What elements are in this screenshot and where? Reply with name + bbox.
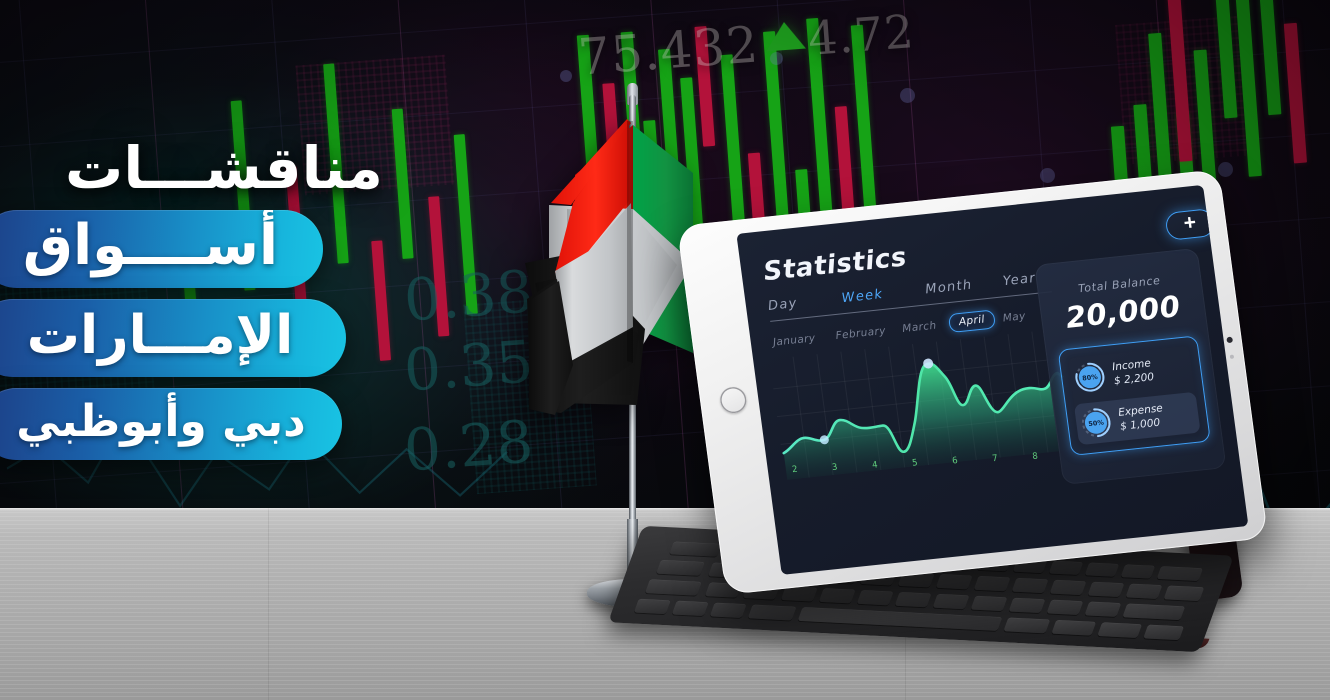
- income-progress-ring: 80%: [1072, 360, 1107, 394]
- income-row[interactable]: 80% Income $ 2,200: [1068, 346, 1195, 399]
- headline-pill-2: الإمـــارات: [0, 299, 346, 377]
- expense-text: Expense $ 1,000: [1118, 402, 1166, 434]
- poster-canvas: 75.432 4.72 0.38 0.35 0.28: [0, 0, 1330, 700]
- x-tick-7: 7: [992, 454, 999, 464]
- month-march[interactable]: March: [902, 318, 950, 335]
- tablet-device: Statistics Day Week Month Year January F…: [677, 169, 1268, 595]
- headline-title: مناقشـــات: [0, 138, 470, 199]
- expense-progress-ring: 50%: [1079, 406, 1114, 440]
- tab-day[interactable]: Day: [767, 291, 843, 314]
- balance-panel: Total Balance 20,000 80%: [1034, 248, 1227, 485]
- month-january[interactable]: January: [772, 330, 836, 348]
- breakdown-card: 80% Income $ 2,200: [1058, 335, 1211, 456]
- tab-month[interactable]: Month: [924, 274, 1004, 297]
- headline-pill-1-label: أســــواق: [23, 213, 278, 278]
- x-tick-2: 2: [791, 465, 798, 475]
- expense-row[interactable]: 50% Expense $ 1,000: [1074, 392, 1201, 445]
- tablet-screen[interactable]: Statistics Day Week Month Year January F…: [736, 185, 1248, 575]
- x-tick-8: 8: [1032, 452, 1039, 462]
- headline-pill-1: أســــواق: [0, 210, 323, 288]
- tab-week[interactable]: Week: [841, 283, 927, 307]
- x-tick-5: 5: [912, 458, 919, 468]
- headline-pill-3-label: دبي وأبوظبي: [16, 396, 305, 447]
- headline-pill-2-label: الإمـــارات: [27, 305, 294, 366]
- income-percent: 80%: [1072, 360, 1107, 394]
- x-tick-3: 3: [831, 463, 838, 473]
- headline-pill-3: دبي وأبوظبي: [0, 388, 342, 460]
- month-may[interactable]: May: [1002, 310, 1026, 324]
- x-tick-6: 6: [952, 456, 959, 466]
- x-tick-4: 4: [872, 460, 879, 470]
- income-text: Income $ 2,200: [1111, 357, 1155, 389]
- headline-block: مناقشـــات أســــواق الإمـــارات دبي وأب…: [0, 138, 470, 460]
- statistics-dashboard: Statistics Day Week Month Year January F…: [736, 185, 1248, 575]
- month-april-selected[interactable]: April: [948, 309, 996, 333]
- expense-percent: 50%: [1079, 406, 1114, 440]
- month-february[interactable]: February: [835, 323, 903, 342]
